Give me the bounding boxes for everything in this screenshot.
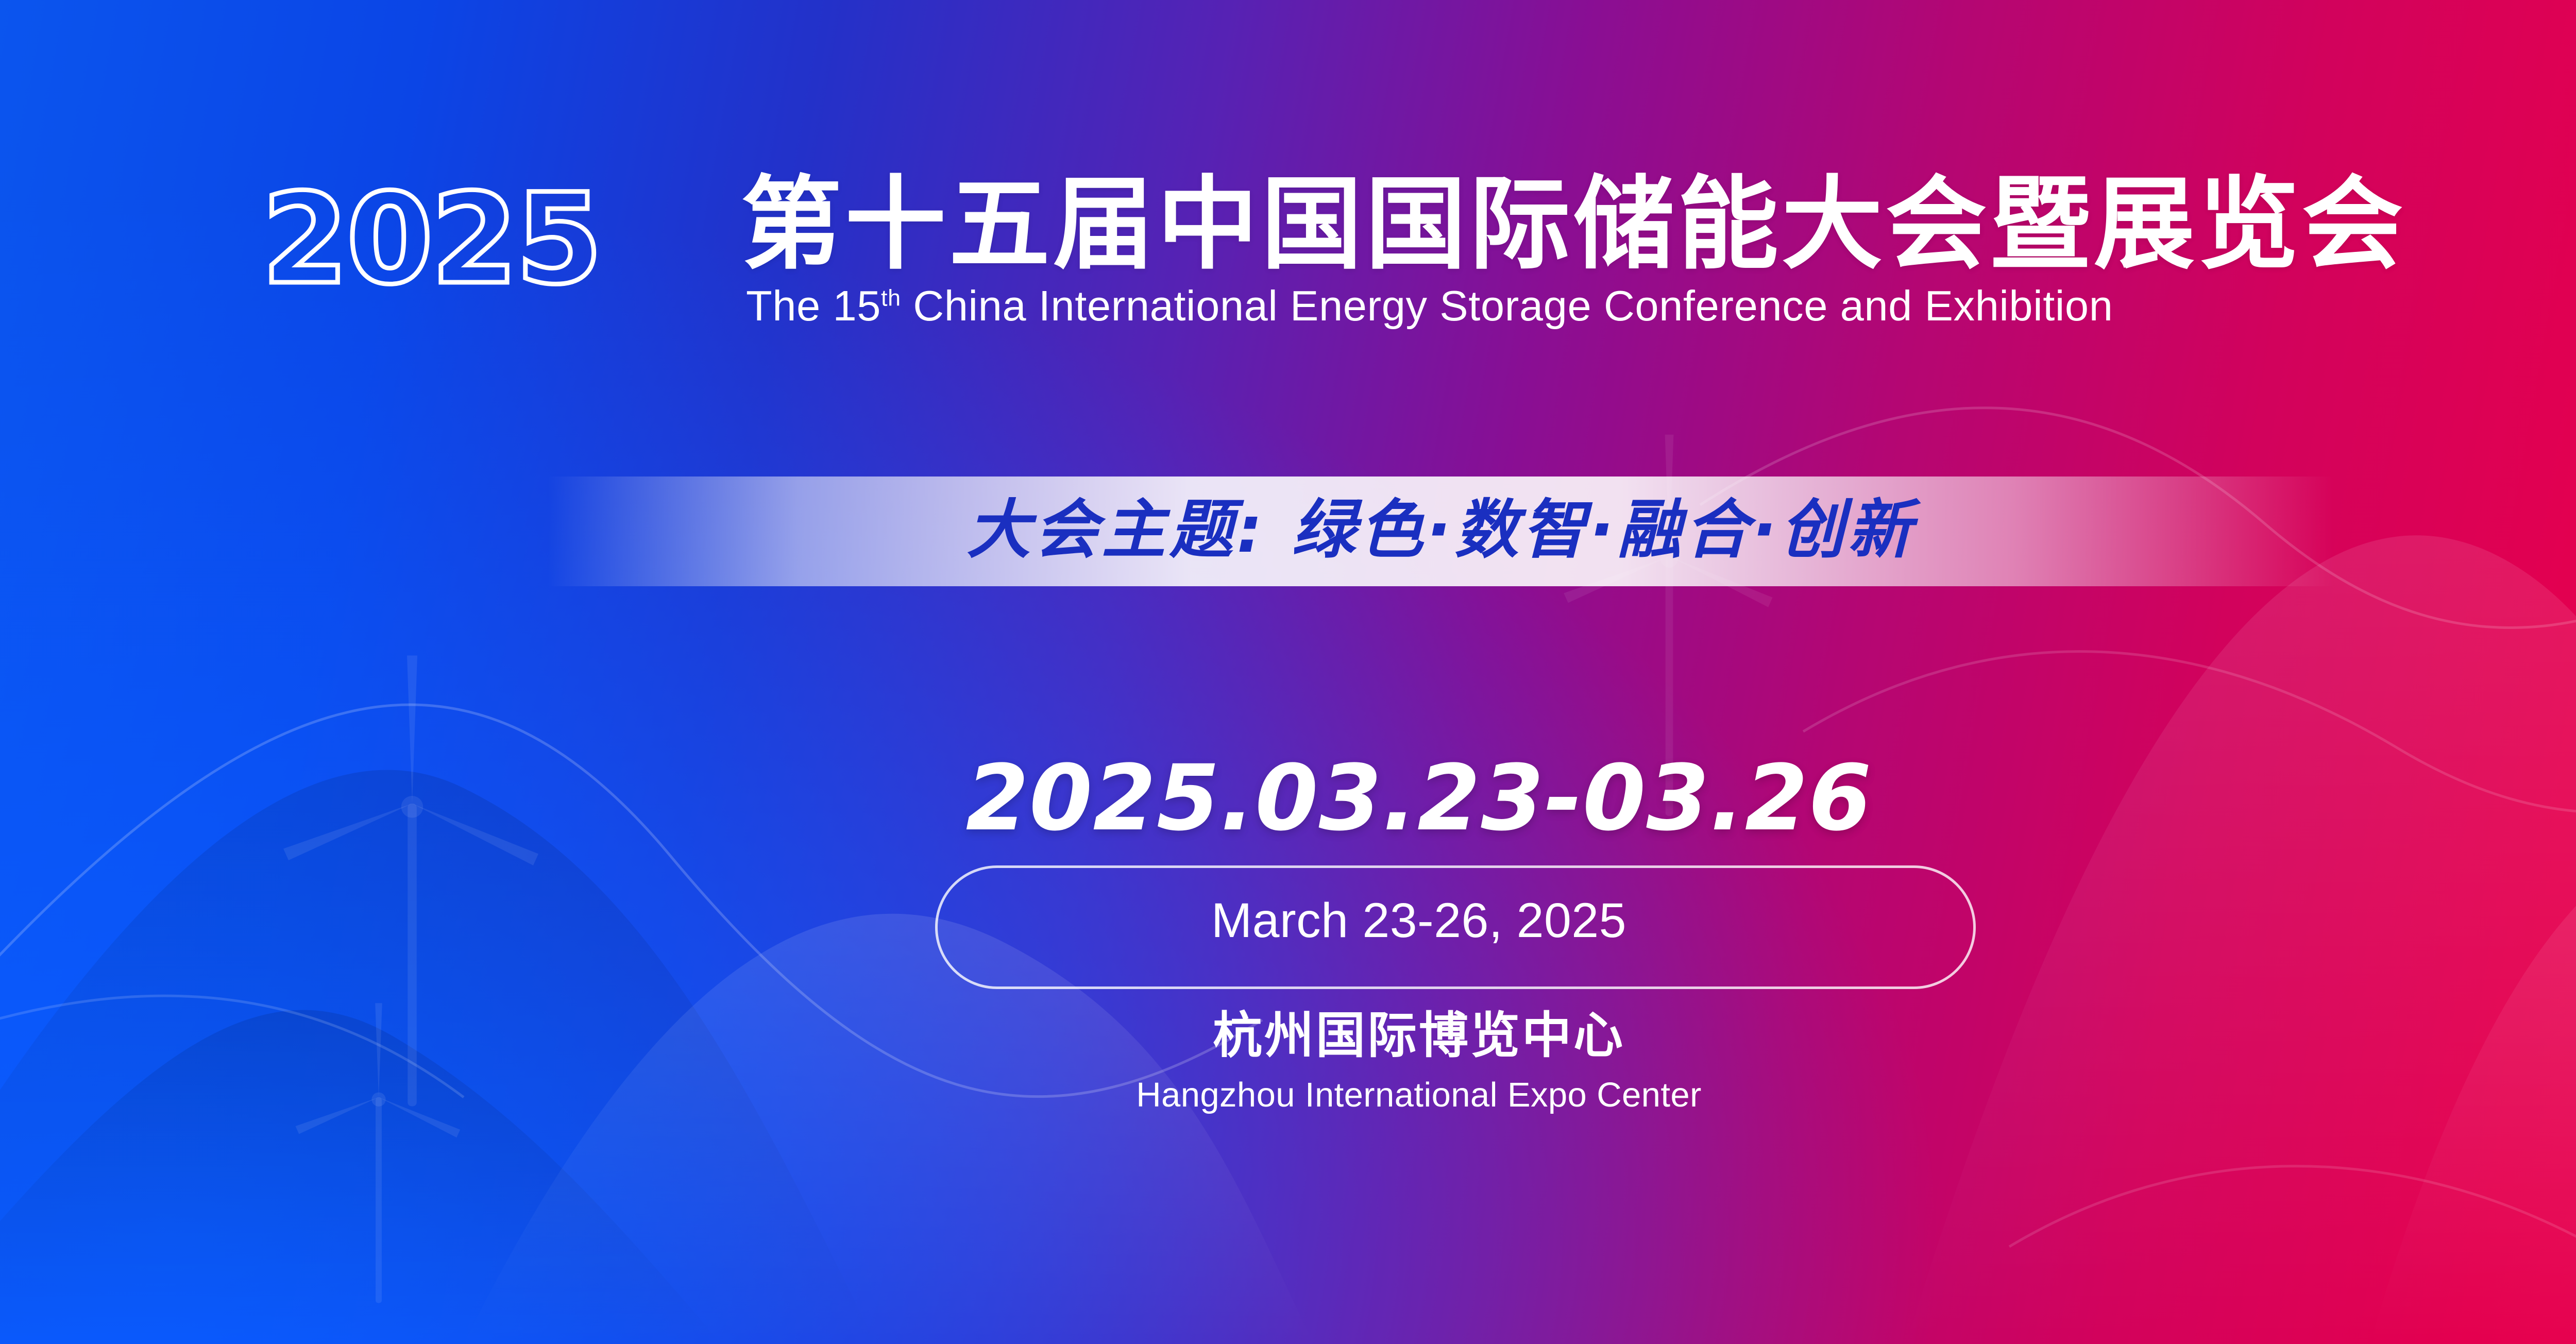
theme-band: 大会主题: 绿色·数智·融合·创新 xyxy=(548,477,2334,586)
conference-banner: CIES 中国国际储能大会 China International Energy… xyxy=(0,0,2576,1344)
title-english: The 15th China International Energy Stor… xyxy=(746,284,2113,327)
venue-name-english: Hangzhou International Expo Center xyxy=(0,1078,2576,1112)
date-secondary: March 23-26, 2025 xyxy=(0,896,2576,945)
year-outline-text: 2025 xyxy=(262,177,601,302)
headline-block: 2025 第十五届中国国际储能大会暨展览会 The 15th China Int… xyxy=(262,181,2576,336)
venue-name-chinese: 杭州国际博览中心 xyxy=(0,1011,2576,1060)
title-english-prefix: The 15 xyxy=(746,282,881,330)
title-english-rest: China International Energy Storage Confe… xyxy=(901,282,2113,330)
title-english-ordinal: th xyxy=(881,285,901,311)
date-primary: 2025.03.23-03.26 xyxy=(0,753,2576,844)
theme-text: 大会主题: 绿色·数智·融合·创新 xyxy=(967,498,1915,562)
title-chinese: 第十五届中国国际储能大会暨展览会 xyxy=(741,174,2406,275)
